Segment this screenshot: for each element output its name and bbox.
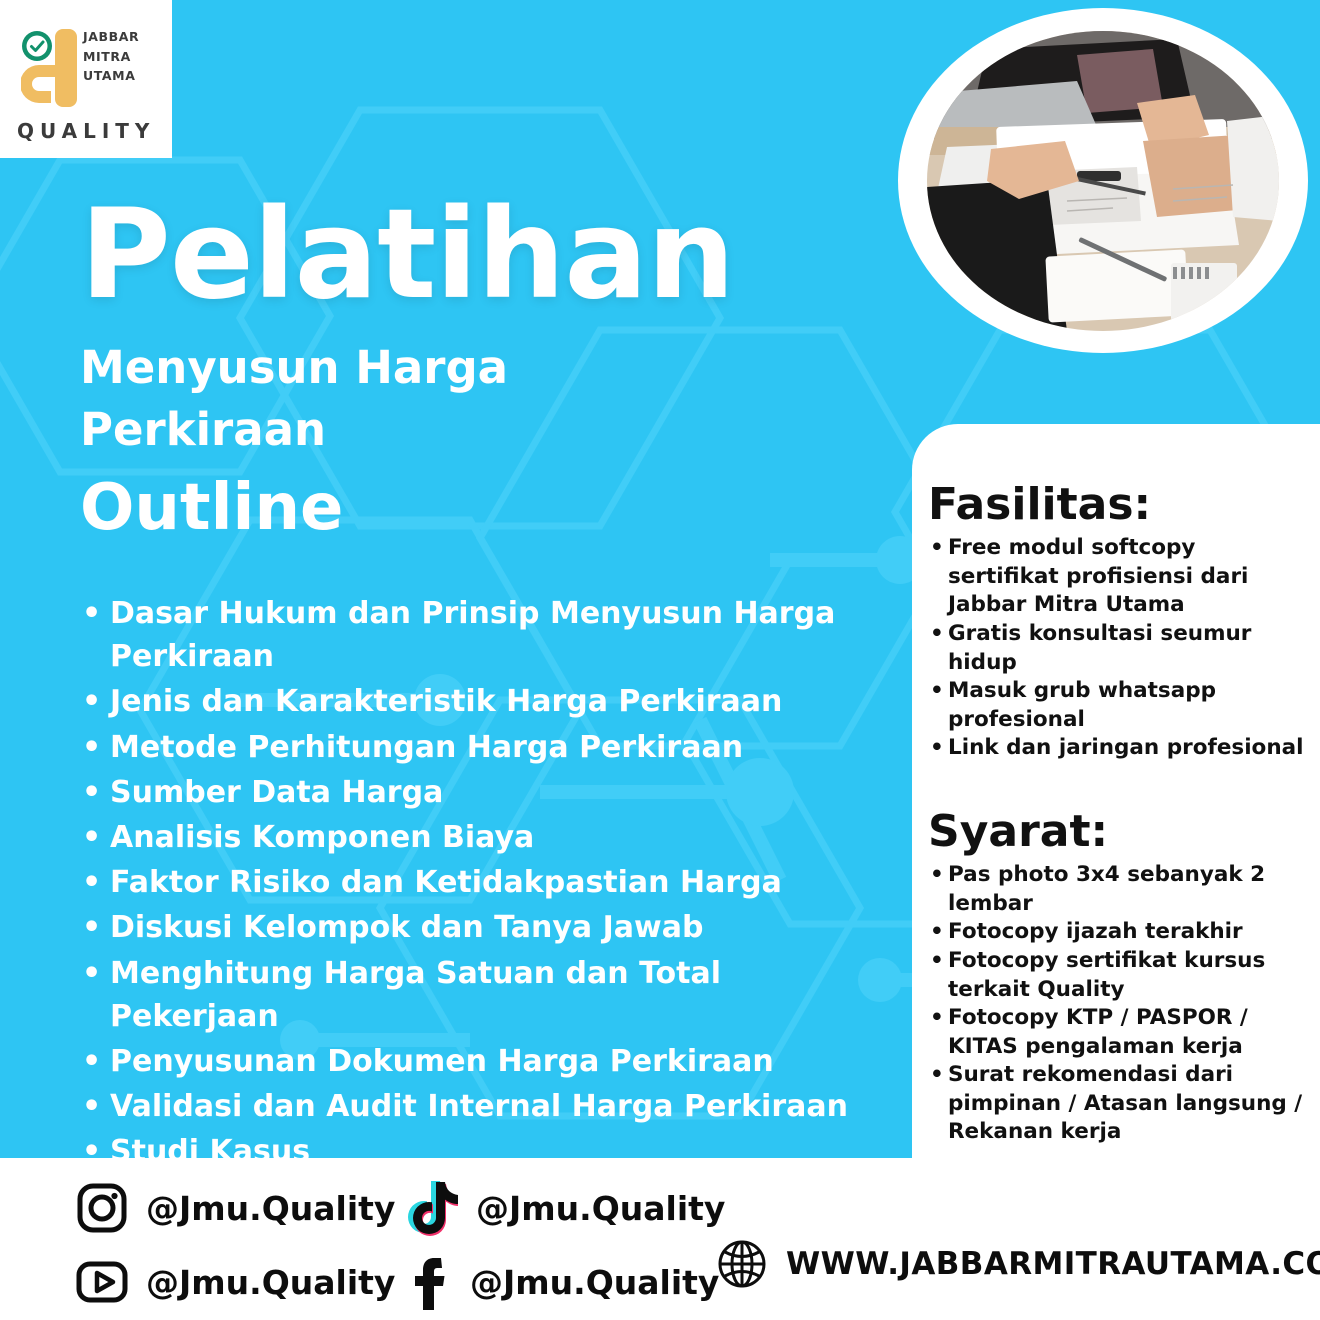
list-item: Metode Perhitungan Harga Perkiraan [76,726,876,769]
list-item: Faktor Risiko dan Ketidakpastian Harga [76,861,876,904]
list-item: Gratis konsultasi seumur hidup [928,620,1306,677]
instagram-handle: @Jmu.Quality [146,1192,395,1225]
page-subtitle: Menyusun Harga Perkiraan [80,337,550,461]
list-item: Diskusi Kelompok dan Tanya Jawab [76,906,876,949]
tiktok-icon[interactable] [408,1180,458,1236]
logo-quality-word: QUALITY [17,121,155,141]
list-item: Sumber Data Harga [76,771,876,814]
brand-logo-card: JABBAR MITRA UTAMA QUALITY [0,0,172,158]
globe-icon[interactable] [716,1238,768,1290]
facebook-handle: @Jmu.Quality [470,1266,719,1299]
info-panel: Fasilitas: Free modul softcopy sertifika… [912,424,1320,1158]
fasilitas-list: Free modul softcopy sertifikat profisien… [928,534,1306,763]
list-item: Fotocopy ijazah terakhir [928,918,1306,947]
instagram-icon[interactable] [76,1182,128,1234]
outline-heading: Outline [80,475,870,542]
tiktok-handle: @Jmu.Quality [476,1192,725,1225]
website-url: WWW.JABBARMITRAUTAMA.CO.ID [786,1249,1320,1280]
outline-list: Dasar Hukum dan Prinsip Menyusun Harga P… [76,592,876,1175]
headline-block: Pelatihan Menyusun Harga Perkiraan Outli… [80,196,870,542]
poster-root: JABBAR MITRA UTAMA QUALITY [0,0,1320,1320]
logo-line-2: MITRA [83,51,139,64]
social-tiktok[interactable]: @Jmu.Quality [408,1180,725,1236]
list-item: Dasar Hukum dan Prinsip Menyusun Harga P… [76,592,876,678]
list-item: Jenis dan Karakteristik Harga Perkiraan [76,680,876,723]
list-item: Fotocopy sertifikat kursus terkait Quali… [928,947,1306,1004]
list-item: Free modul softcopy sertifikat profisien… [928,534,1306,620]
list-item: Link dan jaringan profesional [928,734,1306,763]
youtube-handle: @Jmu.Quality [146,1266,395,1299]
hero-photo-image [927,31,1279,331]
subtitle-line-1: Menyusun Harga [80,337,550,399]
list-item: Menghitung Harga Satuan dan Total Pekerj… [76,952,876,1038]
list-item: Fotocopy KTP / PASPOR / KITAS pengalaman… [928,1004,1306,1061]
list-item: Validasi dan Audit Internal Harga Perkir… [76,1085,876,1128]
facebook-icon[interactable] [408,1254,452,1310]
social-facebook[interactable]: @Jmu.Quality [408,1254,719,1310]
brand-logo-words: JABBAR MITRA UTAMA [83,31,139,83]
list-item: Penyusunan Dokumen Harga Perkiraan [76,1040,876,1083]
syarat-list: Pas photo 3x4 sebanyak 2 lembar Fotocopy… [928,861,1306,1147]
social-youtube[interactable]: @Jmu.Quality [76,1256,395,1308]
youtube-icon[interactable] [76,1256,128,1308]
list-item: Masuk grub whatsapp profesional [928,677,1306,734]
list-item: Analisis Komponen Biaya [76,816,876,859]
syarat-heading: Syarat: [928,809,1306,855]
subtitle-line-2: Perkiraan [80,399,550,461]
hero-photo-circle [898,8,1308,353]
social-instagram[interactable]: @Jmu.Quality [76,1182,395,1234]
logo-line-3: UTAMA [83,70,139,83]
logo-line-1: JABBAR [83,31,139,44]
footer-bar: @Jmu.Quality @Jmu.Quality @Jmu.Quality @… [0,1158,1320,1320]
list-item: Pas photo 3x4 sebanyak 2 lembar [928,861,1306,918]
page-title: Pelatihan [80,196,870,315]
fasilitas-heading: Fasilitas: [928,482,1306,528]
jmu-logo-mark-icon [21,21,83,119]
website-link[interactable]: WWW.JABBARMITRAUTAMA.CO.ID [716,1238,1320,1290]
list-item: Surat rekomendasi dari pimpinan / Atasan… [928,1061,1306,1147]
